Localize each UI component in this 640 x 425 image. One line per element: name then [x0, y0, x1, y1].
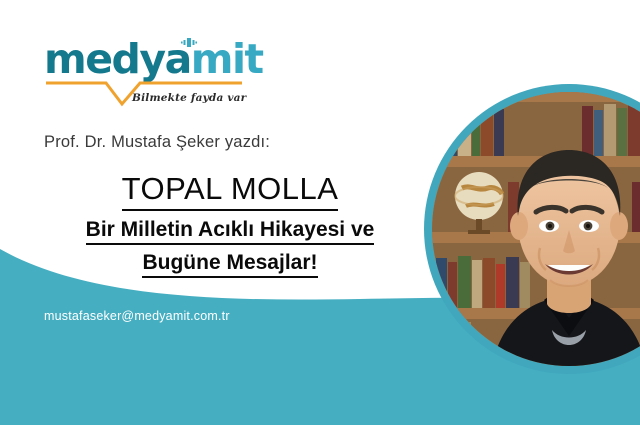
broadcast-antenna-icon [181, 38, 197, 47]
headline-main: TOPAL MOLLA [122, 170, 339, 211]
logo-wordmark: medyamit [44, 36, 263, 82]
logo-word-light: mit [191, 35, 263, 83]
portrait-illustration [432, 92, 640, 366]
author-portrait-image [432, 92, 640, 366]
promo-banner: medyamit Bilmekte fayda var Prof. Dr. Mu… [0, 0, 640, 425]
headline-subtitle-line1: Bir Milletin Acıklı Hikayesi ve [86, 217, 375, 245]
logo-tagline: Bilmekte fayda var [132, 92, 246, 104]
contact-email[interactable]: mustafaseker@medyamit.com.tr [44, 309, 230, 323]
headline-subtitle-line2: Bugüne Mesajlar! [142, 250, 317, 278]
logo-word-dark: medya [44, 35, 191, 83]
logo[interactable]: medyamit Bilmekte fayda var [44, 36, 244, 108]
headline-sub1-row: Bir Milletin Acıklı Hikayesi ve [30, 217, 430, 245]
headline-block: TOPAL MOLLA Bir Milletin Acıklı Hikayesi… [30, 170, 430, 278]
author-byline: Prof. Dr. Mustafa Şeker yazdı: [44, 133, 270, 152]
headline-sub2-row: Bugüne Mesajlar! [30, 250, 430, 278]
headline-main-row: TOPAL MOLLA [30, 170, 430, 211]
